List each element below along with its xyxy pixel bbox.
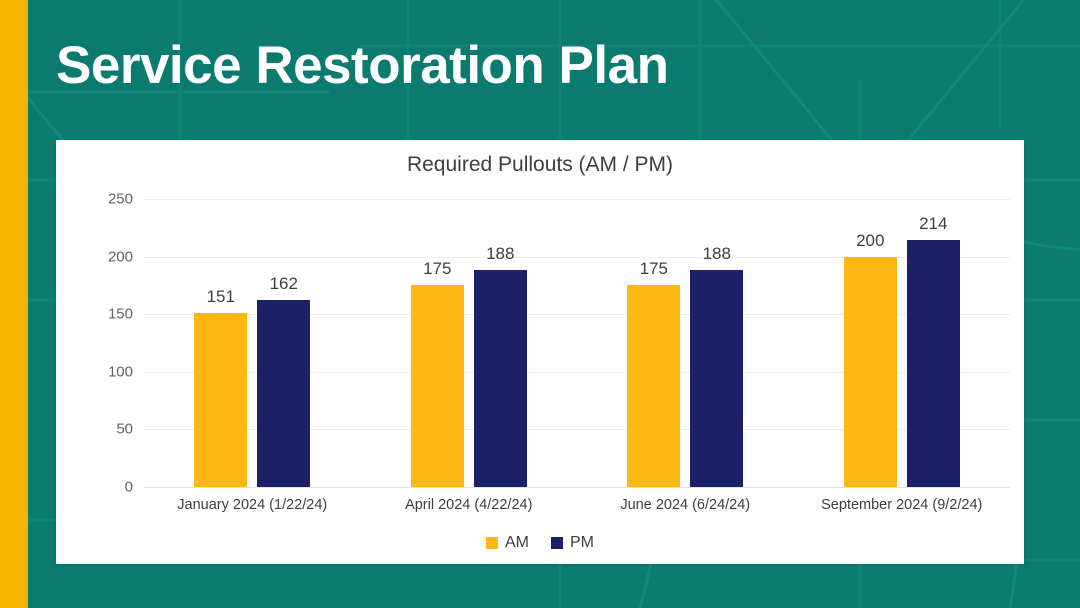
bar-value-label: 200	[856, 231, 884, 251]
bar-pm[interactable]: 188	[690, 270, 743, 487]
bar-pm[interactable]: 214	[907, 240, 960, 487]
x-axis-tick-label: January 2024 (1/22/24)	[144, 497, 361, 513]
bar-group: 151162January 2024 (1/22/24)	[144, 199, 361, 487]
bar-pm[interactable]: 162	[257, 300, 310, 487]
legend-label: PM	[570, 534, 594, 552]
x-axis-tick-label: June 2024 (6/24/24)	[577, 497, 794, 513]
legend-swatch-am	[486, 537, 498, 549]
slide: Service Restoration Plan Required Pullou…	[0, 0, 1080, 608]
y-axis-tick-label: 50	[116, 421, 133, 438]
x-axis-tick-label: April 2024 (4/22/24)	[361, 497, 578, 513]
bar-am[interactable]: 151	[194, 313, 247, 487]
bar-group-bars: 175188	[361, 199, 578, 487]
x-axis-tick-label: September 2024 (9/2/24)	[794, 497, 1011, 513]
bar-value-label: 175	[423, 259, 451, 279]
bar-value-label: 214	[919, 214, 947, 234]
legend-item-pm[interactable]: PM	[551, 534, 594, 552]
bar-value-label: 151	[207, 287, 235, 307]
bar-group: 200214September 2024 (9/2/24)	[794, 199, 1011, 487]
bar-value-label: 188	[703, 244, 731, 264]
legend-item-am[interactable]: AM	[486, 534, 529, 552]
y-axis-tick-label: 200	[108, 248, 133, 265]
bar-group: 175188June 2024 (6/24/24)	[577, 199, 794, 487]
bar-am[interactable]: 175	[627, 285, 680, 487]
chart-title: Required Pullouts (AM / PM)	[56, 153, 1024, 177]
bar-group-bars: 200214	[794, 199, 1011, 487]
y-axis-tick-label: 250	[108, 191, 133, 208]
chart-legend: AMPM	[56, 534, 1024, 552]
chart-card: Required Pullouts (AM / PM) 250200150100…	[56, 140, 1024, 564]
bar-value-label: 162	[270, 274, 298, 294]
bar-group-bars: 151162	[144, 199, 361, 487]
bar-pm[interactable]: 188	[474, 270, 527, 487]
y-axis-tick-label: 150	[108, 306, 133, 323]
left-accent-bar	[0, 0, 28, 608]
y-gridline: 0	[144, 487, 1010, 488]
bar-value-label: 175	[640, 259, 668, 279]
legend-label: AM	[505, 534, 529, 552]
legend-swatch-pm	[551, 537, 563, 549]
y-axis-tick-label: 100	[108, 363, 133, 380]
bar-am[interactable]: 175	[411, 285, 464, 487]
bar-value-label: 188	[486, 244, 514, 264]
bar-group: 175188April 2024 (4/22/24)	[361, 199, 578, 487]
bar-am[interactable]: 200	[844, 257, 897, 487]
chart-plot-area: 250200150100500151162January 2024 (1/22/…	[144, 199, 1010, 487]
y-axis-tick-label: 0	[125, 479, 133, 496]
page-title: Service Restoration Plan	[56, 36, 668, 97]
bar-group-bars: 175188	[577, 199, 794, 487]
